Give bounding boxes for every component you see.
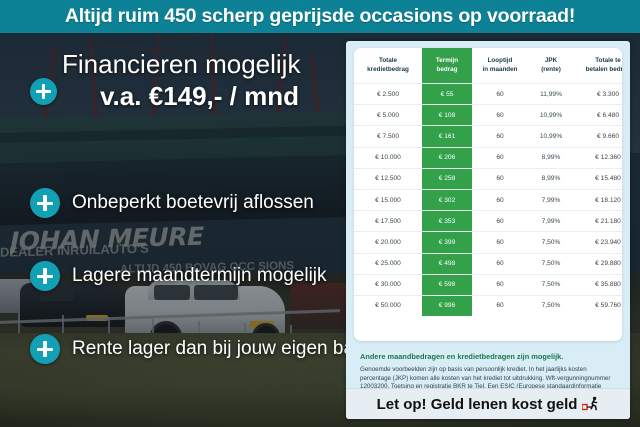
header-line-1: Looptijd	[488, 57, 513, 64]
cell-totaal: € 15.480	[574, 168, 622, 189]
cell-krediet: € 7.500	[354, 126, 422, 147]
plus-icon	[30, 334, 60, 364]
credit-warning-bar: Let op! Geld lenen kost geld	[346, 388, 630, 419]
cell-totaal: € 18.120	[574, 189, 622, 210]
table-row: € 25.000 € 498 60 7,50% € 29.880	[354, 253, 622, 274]
cell-totaal: € 59.760	[574, 295, 622, 316]
benefit-item-1: Onbeperkt boetevrij aflossen	[30, 188, 314, 218]
cell-termijn: € 598	[422, 274, 472, 295]
cell-totaal: € 3.300	[574, 84, 622, 105]
cell-jkp: 7,99%	[528, 189, 574, 210]
cell-krediet: € 50.000	[354, 295, 422, 316]
table-row: € 20.000 € 399 60 7,50% € 23.940	[354, 232, 622, 253]
cell-krediet: € 2.500	[354, 84, 422, 105]
headline-line-2: v.a. €149,- / mnd	[62, 81, 337, 111]
note-title: Andere maandbedragen en kredietbedragen …	[360, 352, 618, 362]
cell-jkp: 7,50%	[528, 232, 574, 253]
cell-termijn: € 258	[422, 168, 472, 189]
table-row: € 30.000 € 598 60 7,50% € 35.880	[354, 274, 622, 295]
promo-messages: Financieren mogelijk v.a. €149,- / mnd O…	[0, 33, 345, 427]
cell-totaal: € 29.880	[574, 253, 622, 274]
financing-info-card: Totale kredietbedrag Termijn bedrag Loop…	[346, 41, 630, 419]
cell-krediet: € 20.000	[354, 232, 422, 253]
cell-krediet: € 17.500	[354, 211, 422, 232]
top-banner-bar: Altijd ruim 450 scherp geprijsde occasio…	[0, 0, 640, 33]
header-line-2: in maanden	[483, 66, 518, 73]
plus-icon	[30, 78, 57, 105]
cell-looptijd: 60	[472, 126, 528, 147]
column-header-termijn: Termijn bedrag	[422, 48, 472, 84]
cell-totaal: € 12.360	[574, 147, 622, 168]
header-line-2: betalen bedrag	[586, 66, 622, 73]
cell-looptijd: 60	[472, 147, 528, 168]
rates-table: Totale kredietbedrag Termijn bedrag Loop…	[354, 48, 622, 316]
cell-jkp: 10,99%	[528, 105, 574, 126]
cell-looptijd: 60	[472, 295, 528, 316]
cell-termijn: € 108	[422, 105, 472, 126]
cell-termijn: € 399	[422, 232, 472, 253]
cell-termijn: € 996	[422, 295, 472, 316]
cell-looptijd: 60	[472, 84, 528, 105]
cell-totaal: € 21.180	[574, 211, 622, 232]
table-row: € 10.000 € 206 60 8,99% € 12.360	[354, 147, 622, 168]
plus-icon	[30, 261, 60, 291]
cell-termijn: € 55	[422, 84, 472, 105]
cell-totaal: € 6.480	[574, 105, 622, 126]
headline-line-1: Financieren mogelijk	[62, 49, 337, 79]
cell-jkp: 7,50%	[528, 274, 574, 295]
cell-krediet: € 25.000	[354, 253, 422, 274]
financing-promo-banner: Altijd ruim 450 scherp geprijsde occasio…	[0, 0, 640, 427]
benefit-label: Lagere maandtermijn mogelijk	[72, 265, 327, 287]
cell-jkp: 7,99%	[528, 211, 574, 232]
cell-looptijd: 60	[472, 211, 528, 232]
cell-looptijd: 60	[472, 168, 528, 189]
table-row: € 7.500 € 161 60 10,99% € 9.660	[354, 126, 622, 147]
header-line-1: Termijn	[436, 57, 458, 64]
table-row: € 15.000 € 302 60 7,99% € 18.120	[354, 189, 622, 210]
cell-termijn: € 206	[422, 147, 472, 168]
header-line-2: kredietbedrag	[367, 66, 409, 73]
cell-jkp: 10,99%	[528, 126, 574, 147]
cell-krediet: € 5.000	[354, 105, 422, 126]
column-header-krediet: Totale kredietbedrag	[354, 48, 422, 84]
column-header-looptijd: Looptijd in maanden	[472, 48, 528, 84]
cell-jkp: 7,50%	[528, 295, 574, 316]
benefit-label: Rente lager dan bij jouw eigen bank	[72, 338, 374, 360]
header-line-2: bedrag	[437, 66, 458, 73]
top-banner-text: Altijd ruim 450 scherp geprijsde occasio…	[65, 5, 575, 28]
benefit-item-3: Rente lager dan bij jouw eigen bank	[30, 334, 374, 364]
cell-looptijd: 60	[472, 105, 528, 126]
rates-table-container: Totale kredietbedrag Termijn bedrag Loop…	[354, 48, 622, 341]
cell-termijn: € 161	[422, 126, 472, 147]
column-header-jkp: JPK (rente)	[528, 48, 574, 84]
cell-krediet: € 30.000	[354, 274, 422, 295]
cell-jkp: 11,99%	[528, 84, 574, 105]
cell-looptijd: 60	[472, 274, 528, 295]
cell-krediet: € 10.000	[354, 147, 422, 168]
header-line-1: JPK	[545, 57, 557, 64]
table-row: € 50.000 € 996 60 7,50% € 59.760	[354, 295, 622, 316]
cell-totaal: € 9.660	[574, 126, 622, 147]
table-row: € 12.500 € 258 60 8,99% € 15.480	[354, 168, 622, 189]
rates-table-body: € 2.500 € 55 60 11,99% € 3.300 € 5.000 €…	[354, 84, 622, 317]
cell-termijn: € 302	[422, 189, 472, 210]
column-header-totaal: Totale te betalen bedrag	[574, 48, 622, 84]
cell-jkp: 8,99%	[528, 168, 574, 189]
benefit-item-2: Lagere maandtermijn mogelijk	[30, 261, 327, 291]
cell-krediet: € 15.000	[354, 189, 422, 210]
table-header-row: Totale kredietbedrag Termijn bedrag Loop…	[354, 48, 622, 84]
cell-looptijd: 60	[472, 232, 528, 253]
header-line-2: (rente)	[541, 66, 561, 73]
cell-termijn: € 498	[422, 253, 472, 274]
table-row: € 5.000 € 108 60 10,99% € 6.480	[354, 105, 622, 126]
header-line-1: Totale	[379, 57, 397, 64]
cell-termijn: € 353	[422, 211, 472, 232]
cell-krediet: € 12.500	[354, 168, 422, 189]
credit-warning-text: Let op! Geld lenen kost geld	[377, 396, 578, 413]
cell-totaal: € 23.940	[574, 232, 622, 253]
cell-jkp: 8,99%	[528, 147, 574, 168]
benefit-label: Onbeperkt boetevrij aflossen	[72, 192, 314, 214]
cell-totaal: € 35.880	[574, 274, 622, 295]
table-row: € 17.500 € 353 60 7,99% € 21.180	[354, 211, 622, 232]
cell-jkp: 7,50%	[528, 253, 574, 274]
plus-icon	[30, 188, 60, 218]
cell-looptijd: 60	[472, 189, 528, 210]
table-row: € 2.500 € 55 60 11,99% € 3.300	[354, 84, 622, 105]
cell-looptijd: 60	[472, 253, 528, 274]
header-line-1: Totale te	[595, 57, 620, 64]
afm-running-man-icon	[582, 396, 599, 412]
